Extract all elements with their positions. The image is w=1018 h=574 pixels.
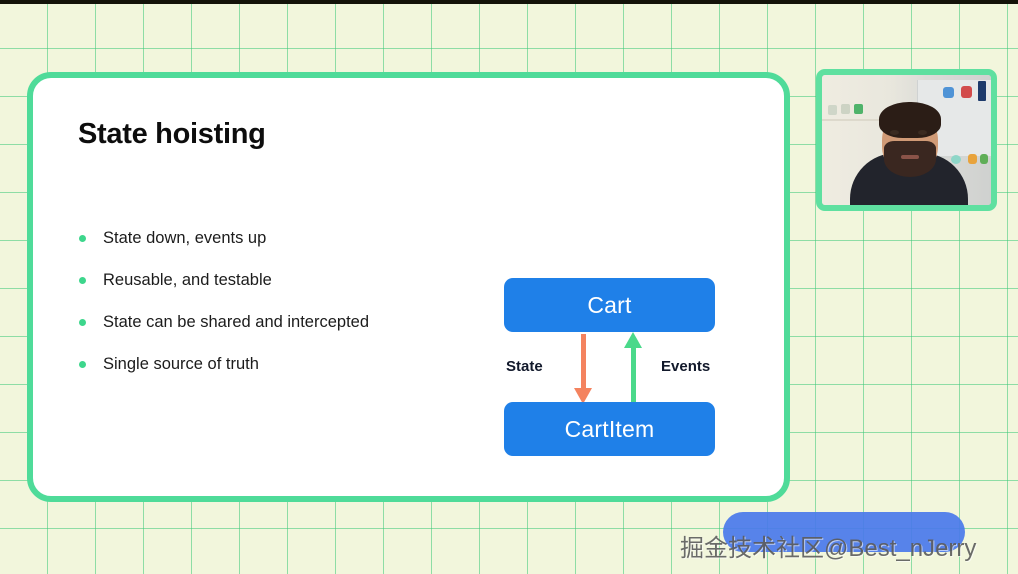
bullet-dot-icon — [79, 277, 86, 284]
list-item-label: Reusable, and testable — [103, 271, 272, 289]
shelf-figurine — [951, 155, 961, 164]
presenter-beard — [884, 141, 936, 177]
shelf-figurine — [943, 87, 954, 98]
presenter-eye-left — [890, 130, 899, 135]
list-item: State down, events up — [79, 228, 459, 248]
bullet-dot-icon — [79, 361, 86, 368]
shelf-figurine — [980, 154, 988, 164]
shelf-figurine — [841, 104, 850, 114]
webcam-scene — [822, 75, 991, 205]
webcam-video-overlay[interactable] — [816, 69, 997, 211]
bullet-list: State down, events up Reusable, and test… — [79, 228, 459, 396]
list-item-label: State down, events up — [103, 229, 266, 247]
state-hoisting-diagram: Cart State Events CartItem — [476, 206, 736, 466]
presenter-eye-right — [918, 130, 927, 135]
shelf-figurine — [978, 81, 986, 101]
edge-label-state: State — [506, 358, 543, 375]
events-arrow-head-icon — [624, 332, 642, 348]
state-arrow-shaft — [581, 334, 586, 392]
presenter-mouth — [901, 155, 919, 159]
list-item: Single source of truth — [79, 354, 459, 374]
slide-card: State hoisting State down, events up Reu… — [27, 72, 790, 502]
diagram-node-cart: Cart — [504, 278, 715, 332]
shelf-figurine — [854, 104, 863, 114]
list-item: Reusable, and testable — [79, 270, 459, 290]
bullet-dot-icon — [79, 235, 86, 242]
list-item: State can be shared and intercepted — [79, 312, 459, 332]
list-item-label: Single source of truth — [103, 355, 259, 373]
top-letterbox-strip — [0, 0, 1018, 4]
shelf-figurine — [961, 86, 972, 98]
edge-label-events: Events — [661, 358, 710, 375]
list-item-label: State can be shared and intercepted — [103, 313, 369, 331]
watermark-text: 掘金技术社区@Best_nJerry — [680, 528, 1010, 563]
slide-title: State hoisting — [78, 118, 266, 151]
presenter-hair — [879, 102, 941, 138]
events-arrow-shaft — [631, 348, 636, 404]
shelf-figurine — [828, 105, 837, 115]
shelf-figurine — [968, 154, 977, 164]
diagram-node-cartitem: CartItem — [504, 402, 715, 456]
bullet-dot-icon — [79, 319, 86, 326]
